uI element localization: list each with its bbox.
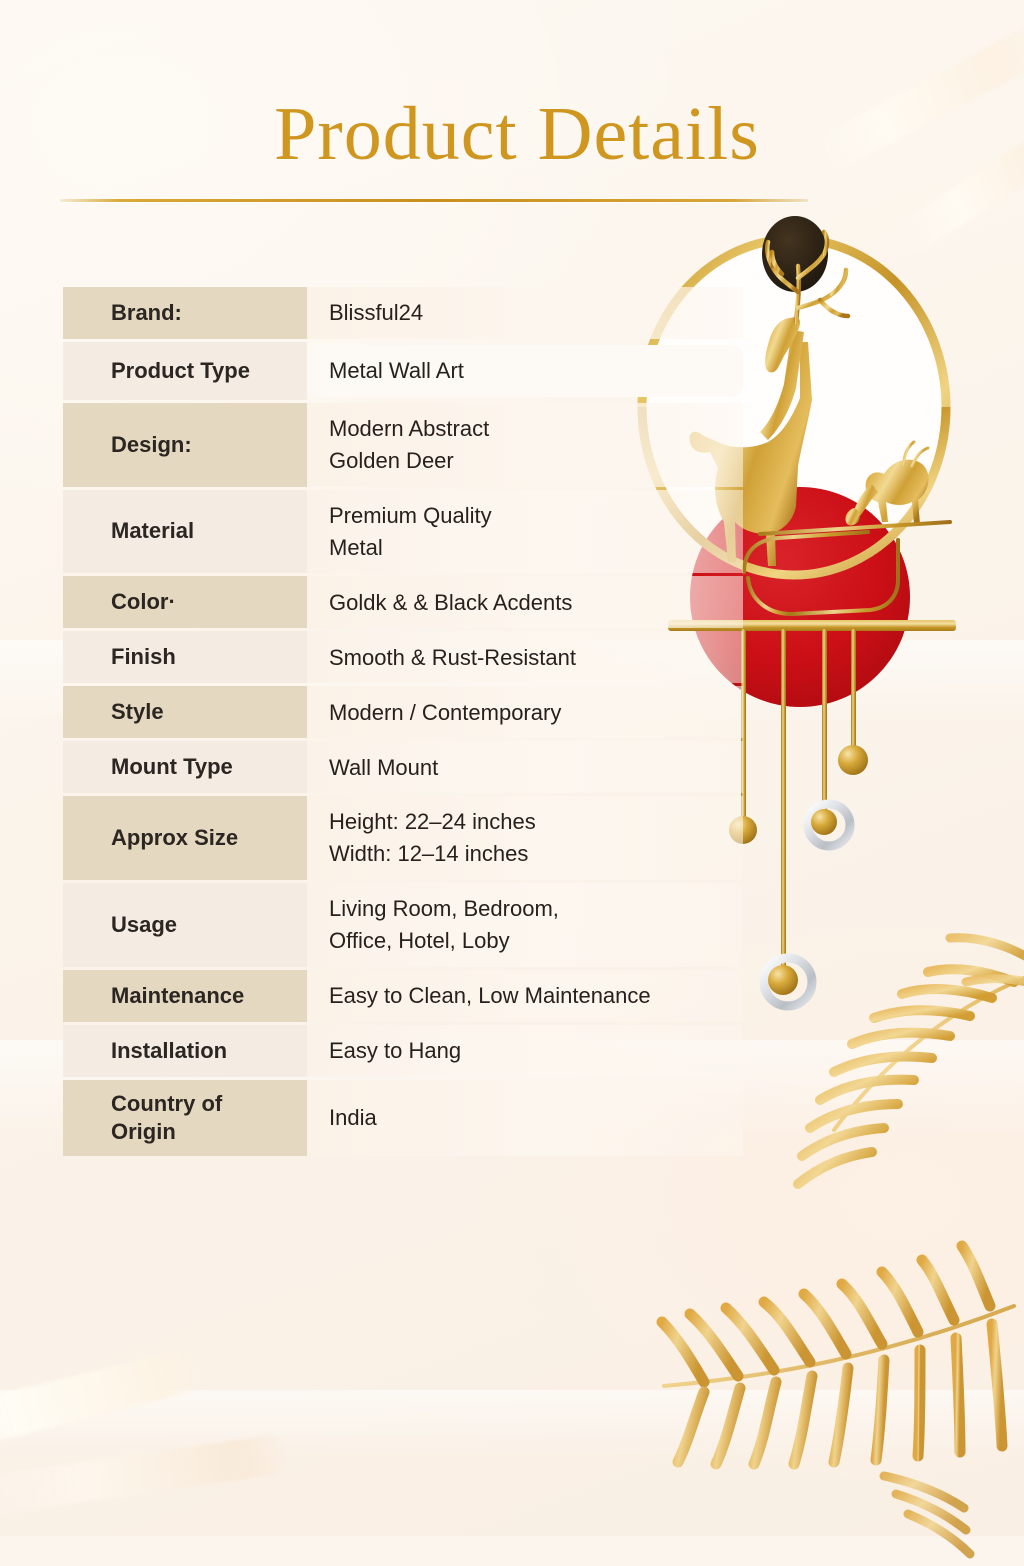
spec-value: Modern Abstract Golden Deer [307, 403, 743, 487]
background-band [0, 1390, 1024, 1460]
spec-label: Design: [63, 403, 307, 487]
table-row: Brand:Blissful24 [63, 287, 743, 339]
table-row: Product TypeMetal Wall Art [63, 342, 743, 400]
spec-label: Product Type [63, 342, 307, 400]
spec-value: Modern / Contemporary [307, 686, 743, 738]
brush-stroke-decoration [0, 1344, 211, 1459]
spec-label: Color· [63, 576, 307, 628]
spec-value: Goldk & & Black Acdents [307, 576, 743, 628]
table-row: Design:Modern Abstract Golden Deer [63, 403, 743, 487]
hanging-rod [822, 629, 827, 819]
spec-value: Living Room, Bedroom, Office, Hotel, Lob… [307, 883, 743, 967]
spec-label: Approx Size [63, 796, 307, 880]
table-row: StyleModern / Contemporary [63, 686, 743, 738]
hanging-rod [781, 629, 786, 974]
hanging-rod [851, 629, 856, 754]
spec-value: Smooth & Rust-Resistant [307, 631, 743, 683]
spec-value: Easy to Hang [307, 1025, 743, 1077]
spec-value: Wall Mount [307, 741, 743, 793]
table-row: Country of OriginIndia [63, 1080, 743, 1156]
spec-label: Finish [63, 631, 307, 683]
spec-value: Premium Quality Metal [307, 490, 743, 574]
gold-ball [838, 745, 868, 775]
table-row: InstallationEasy to Hang [63, 1025, 743, 1077]
spec-label: Country of Origin [63, 1080, 307, 1156]
spec-value: Height: 22–24 inches Width: 12–14 inches [307, 796, 743, 880]
spec-label: Usage [63, 883, 307, 967]
page-title: Product Details [0, 96, 1024, 172]
gold-ball [768, 965, 798, 995]
table-row: UsageLiving Room, Bedroom, Office, Hotel… [63, 883, 743, 967]
spec-value: India [307, 1080, 743, 1156]
spec-label: Brand: [63, 287, 307, 339]
spec-label: Material [63, 490, 307, 574]
spec-label: Mount Type [63, 741, 307, 793]
table-row: Color·Goldk & & Black Acdents [63, 576, 743, 628]
brush-stroke-decoration [0, 1433, 291, 1519]
header: Product Details [0, 96, 1024, 172]
spec-label: Style [63, 686, 307, 738]
spec-value: Blissful24 [307, 287, 743, 339]
title-divider [60, 199, 808, 202]
spec-label: Maintenance [63, 970, 307, 1022]
table-row: Approx SizeHeight: 22–24 inches Width: 1… [63, 796, 743, 880]
spec-label: Installation [63, 1025, 307, 1077]
gold-ball [811, 809, 837, 835]
table-row: MaterialPremium Quality Metal [63, 490, 743, 574]
spec-value: Easy to Clean, Low Maintenance [307, 970, 743, 1022]
table-row: MaintenanceEasy to Clean, Low Maintenanc… [63, 970, 743, 1022]
product-spec-table: Brand:Blissful24Product TypeMetal Wall A… [63, 287, 743, 1159]
spec-value: Metal Wall Art [307, 345, 743, 397]
table-row: Mount TypeWall Mount [63, 741, 743, 793]
table-row: FinishSmooth & Rust-Resistant [63, 631, 743, 683]
